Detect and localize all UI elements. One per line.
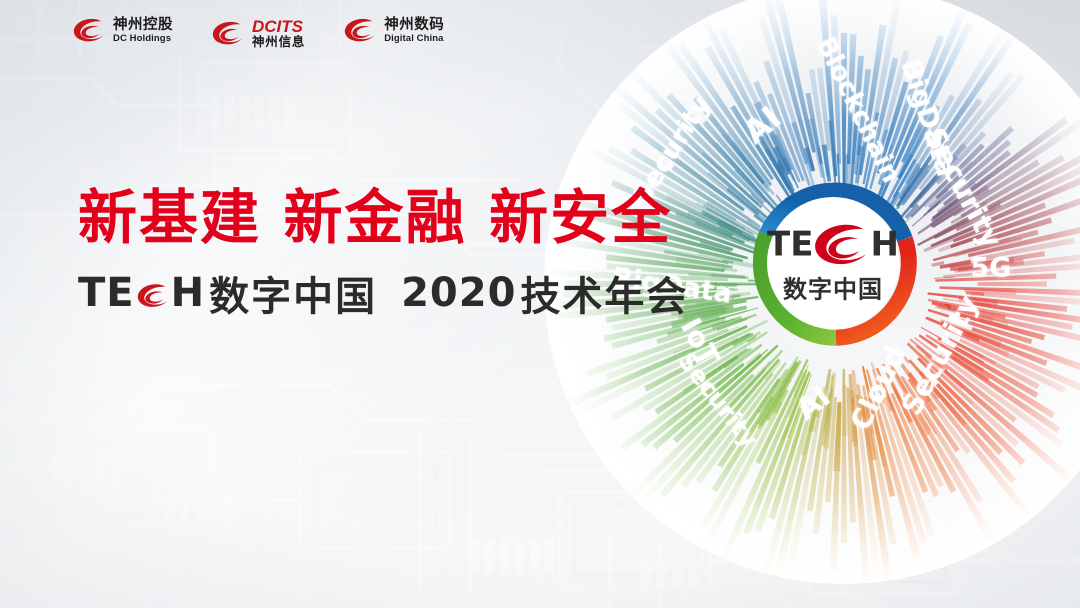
emblem-lockup: TE H 数字中国 <box>767 221 899 304</box>
subtitle-year: 2020 <box>401 270 516 316</box>
emblem-chinese-name: 数字中国 <box>767 270 899 305</box>
subtitle-event-cn: 技术年会 <box>516 264 688 322</box>
subtitle-tech-part2: H <box>171 270 205 316</box>
logo-dc-holdings-en: DC Holdings <box>113 34 173 44</box>
logo-digital-china-en: Digital China <box>384 34 444 44</box>
subtitle-tech-part1: TE <box>78 270 135 316</box>
logo-dc-holdings[interactable]: 神州控股 DC Holdings <box>72 18 173 44</box>
poster-canvas: SecurityAIBlockchainBigDataSecurity5GSec… <box>0 0 1080 608</box>
emblem-tech-part2: H <box>871 227 899 261</box>
logo-dcits-cn: 神州信息 <box>252 36 305 49</box>
logo-digital-china-cn: 神州数码 <box>384 18 444 33</box>
dc-swoosh-icon <box>72 18 106 44</box>
logo-digital-china[interactable]: 神州数码 Digital China <box>343 18 444 44</box>
emblem-tech-wordmark: TE H <box>767 221 899 266</box>
dc-swoosh-icon <box>812 223 871 268</box>
subtitle-brand-cn: 数字中国 <box>205 264 377 322</box>
logo-dcits[interactable]: DCITS 神州信息 <box>211 18 305 49</box>
keyword-5g-5: 5G <box>971 253 1012 284</box>
tech-digital-china-emblem: TE H 数字中国 <box>744 174 922 352</box>
partner-logo-bar: 神州控股 DC Holdings DCITS 神州信息 神州数码 Digital… <box>72 18 444 49</box>
dc-swoosh-icon <box>136 283 170 310</box>
dc-swoosh-icon <box>211 21 245 47</box>
logo-dc-holdings-cn: 神州控股 <box>113 18 173 33</box>
poster-headline: 新基建 新金融 新安全 <box>78 188 688 247</box>
hero-text-block: 新基建 新金融 新安全 TE H 数字中国 2020 技术年会 <box>78 188 688 322</box>
emblem-tech-part1: TE <box>767 227 813 261</box>
dc-swoosh-icon <box>343 18 377 44</box>
logo-dcits-wordmark: DCITS <box>252 18 305 36</box>
poster-subtitle: TE H 数字中国 2020 技术年会 <box>78 264 688 322</box>
